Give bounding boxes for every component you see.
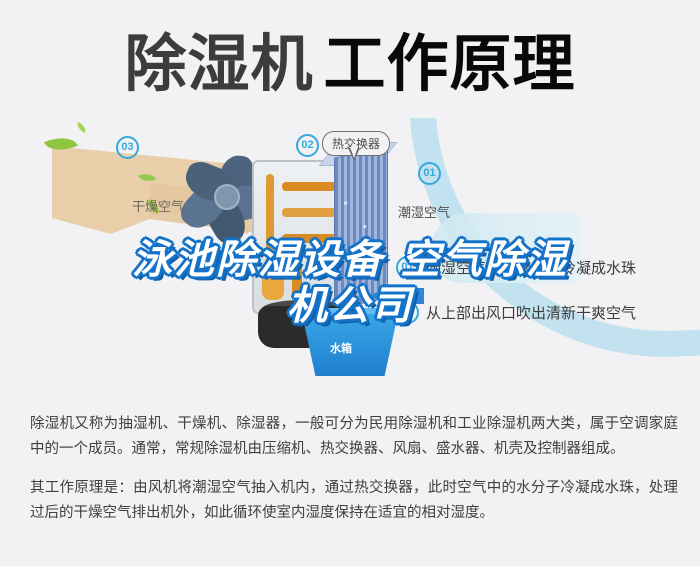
- condensation-droplets: [336, 173, 384, 293]
- diagram-label-dry-air: 干燥空气: [132, 196, 184, 215]
- diagram-badge-humid-air: 01: [418, 162, 441, 185]
- step-text: 潮湿空气经过蒸发器冷凝成水珠: [426, 257, 636, 278]
- article-body: 除湿机又称为抽湿机、干燥机、除湿器，一般可分为民用除湿机和工业除湿机两大类，属于…: [30, 412, 678, 540]
- page-title: 除湿机工作原理: [0, 16, 700, 112]
- paragraph: 除湿机又称为抽湿机、干燥机、除湿器，一般可分为民用除湿机和工业除湿机两大类，属于…: [30, 412, 678, 462]
- bubble-pointer-inner-icon: [350, 147, 358, 158]
- title-part-topic: 工作原理: [324, 27, 576, 100]
- process-steps: 01 潮湿空气经过蒸发器冷凝成水珠 03 从上部出风口吹出清新干爽空气: [396, 256, 700, 346]
- process-step: 03 从上部出风口吹出清新干爽空气: [396, 301, 700, 324]
- title-part-product: 除湿机: [124, 27, 313, 100]
- refrigerant-pipe: [282, 234, 336, 243]
- refrigerant-tank: [262, 274, 284, 300]
- title-text: 除湿机工作原理: [0, 16, 700, 112]
- diagram-label-humid-air: 潮湿空气: [398, 202, 450, 221]
- refrigerant-pipe: [282, 182, 336, 191]
- paragraph: 其工作原理是：由风机将潮湿空气抽入机内，通过热交换器，此时空气中的水分子冷凝成水…: [30, 476, 678, 526]
- refrigerant-pipe: [282, 208, 336, 217]
- diagram-badge-heat-exchanger: 02: [296, 134, 319, 157]
- refrigerant-pipe: [292, 260, 302, 300]
- process-step: 01 潮湿空气经过蒸发器冷凝成水珠: [396, 256, 700, 279]
- article-page: 除湿机工作原理: [0, 0, 700, 566]
- fan-hub: [214, 184, 240, 210]
- step-badge: 03: [396, 301, 419, 324]
- step-badge: 01: [396, 256, 419, 279]
- refrigerant-pipe: [266, 174, 274, 270]
- water-tank-label: 水箱: [330, 340, 352, 356]
- diagram-badge-dry-air: 03: [116, 136, 139, 159]
- leaf-icon: [75, 122, 88, 133]
- step-text: 从上部出风口吹出清新干爽空气: [426, 302, 636, 323]
